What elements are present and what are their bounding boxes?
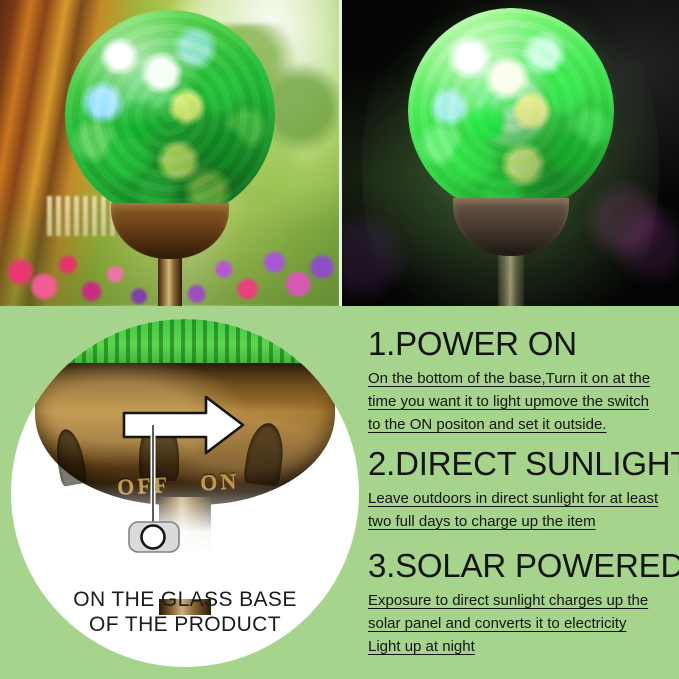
step-3-line-3: Light up at night <box>368 635 668 658</box>
glass-highlight <box>65 10 275 220</box>
instruction-panel: OFF ON ON THE GLASS BASE OF <box>0 306 679 679</box>
instruction-steps: 1.POWER ON On the bottom of the base,Tur… <box>368 306 668 679</box>
garden-stake-stem-night <box>498 254 524 306</box>
photo-daytime-garden <box>0 0 339 306</box>
gazing-ball-daytime <box>65 10 275 306</box>
callout-caption-line-1: ON THE GLASS BASE <box>11 587 359 612</box>
glass-globe <box>65 10 275 220</box>
step-1-line-1: On the bottom of the base,Turn it on at … <box>368 367 668 390</box>
photo-night-illuminated <box>342 0 679 306</box>
step-3-body: Exposure to direct sunlight charges up t… <box>368 589 668 658</box>
step-3-line-1: Exposure to direct sunlight charges up t… <box>368 589 668 612</box>
step-2-body: Leave outdoors in direct sunlight for at… <box>368 487 668 533</box>
step-2-line-1: Leave outdoors in direct sunlight for at… <box>368 487 668 510</box>
step-3-line-2: solar panel and converts it to electrici… <box>368 612 668 635</box>
metal-base-cap-night <box>453 198 569 256</box>
step-1-line-3: to the ON positon and set it outside. <box>368 413 668 436</box>
switch-location-callout: OFF ON ON THE GLASS BASE OF <box>11 319 359 667</box>
step-2-title: 2.DIRECT SUNLIGHT <box>368 446 668 482</box>
step-direct-sunlight: 2.DIRECT SUNLIGHT Leave outdoors in dire… <box>368 446 668 533</box>
step-solar-powered: 3.SOLAR POWERED Exposure to direct sunli… <box>368 548 668 658</box>
switch-toggle-knob <box>142 526 165 549</box>
step-1-title: 1.POWER ON <box>368 326 668 362</box>
gazing-ball-night <box>408 8 614 306</box>
glass-globe-lit <box>408 8 614 214</box>
step-power-on: 1.POWER ON On the bottom of the base,Tur… <box>368 326 668 436</box>
metal-base-cap <box>111 203 229 259</box>
callout-caption-line-2: OF THE PRODUCT <box>11 612 359 637</box>
step-1-body: On the bottom of the base,Turn it on at … <box>368 367 668 436</box>
callout-caption: ON THE GLASS BASE OF THE PRODUCT <box>11 587 359 637</box>
product-infographic: OFF ON ON THE GLASS BASE OF <box>0 0 679 679</box>
step-1-line-2: time you want it to light upmove the swi… <box>368 390 668 413</box>
glass-highlight-lit <box>408 8 614 214</box>
arrow-right-icon <box>124 397 243 453</box>
photo-strip <box>0 0 679 306</box>
step-3-title: 3.SOLAR POWERED <box>368 548 668 584</box>
step-2-line-2: two full days to charge up the item <box>368 510 668 533</box>
garden-stake-stem <box>158 257 182 306</box>
